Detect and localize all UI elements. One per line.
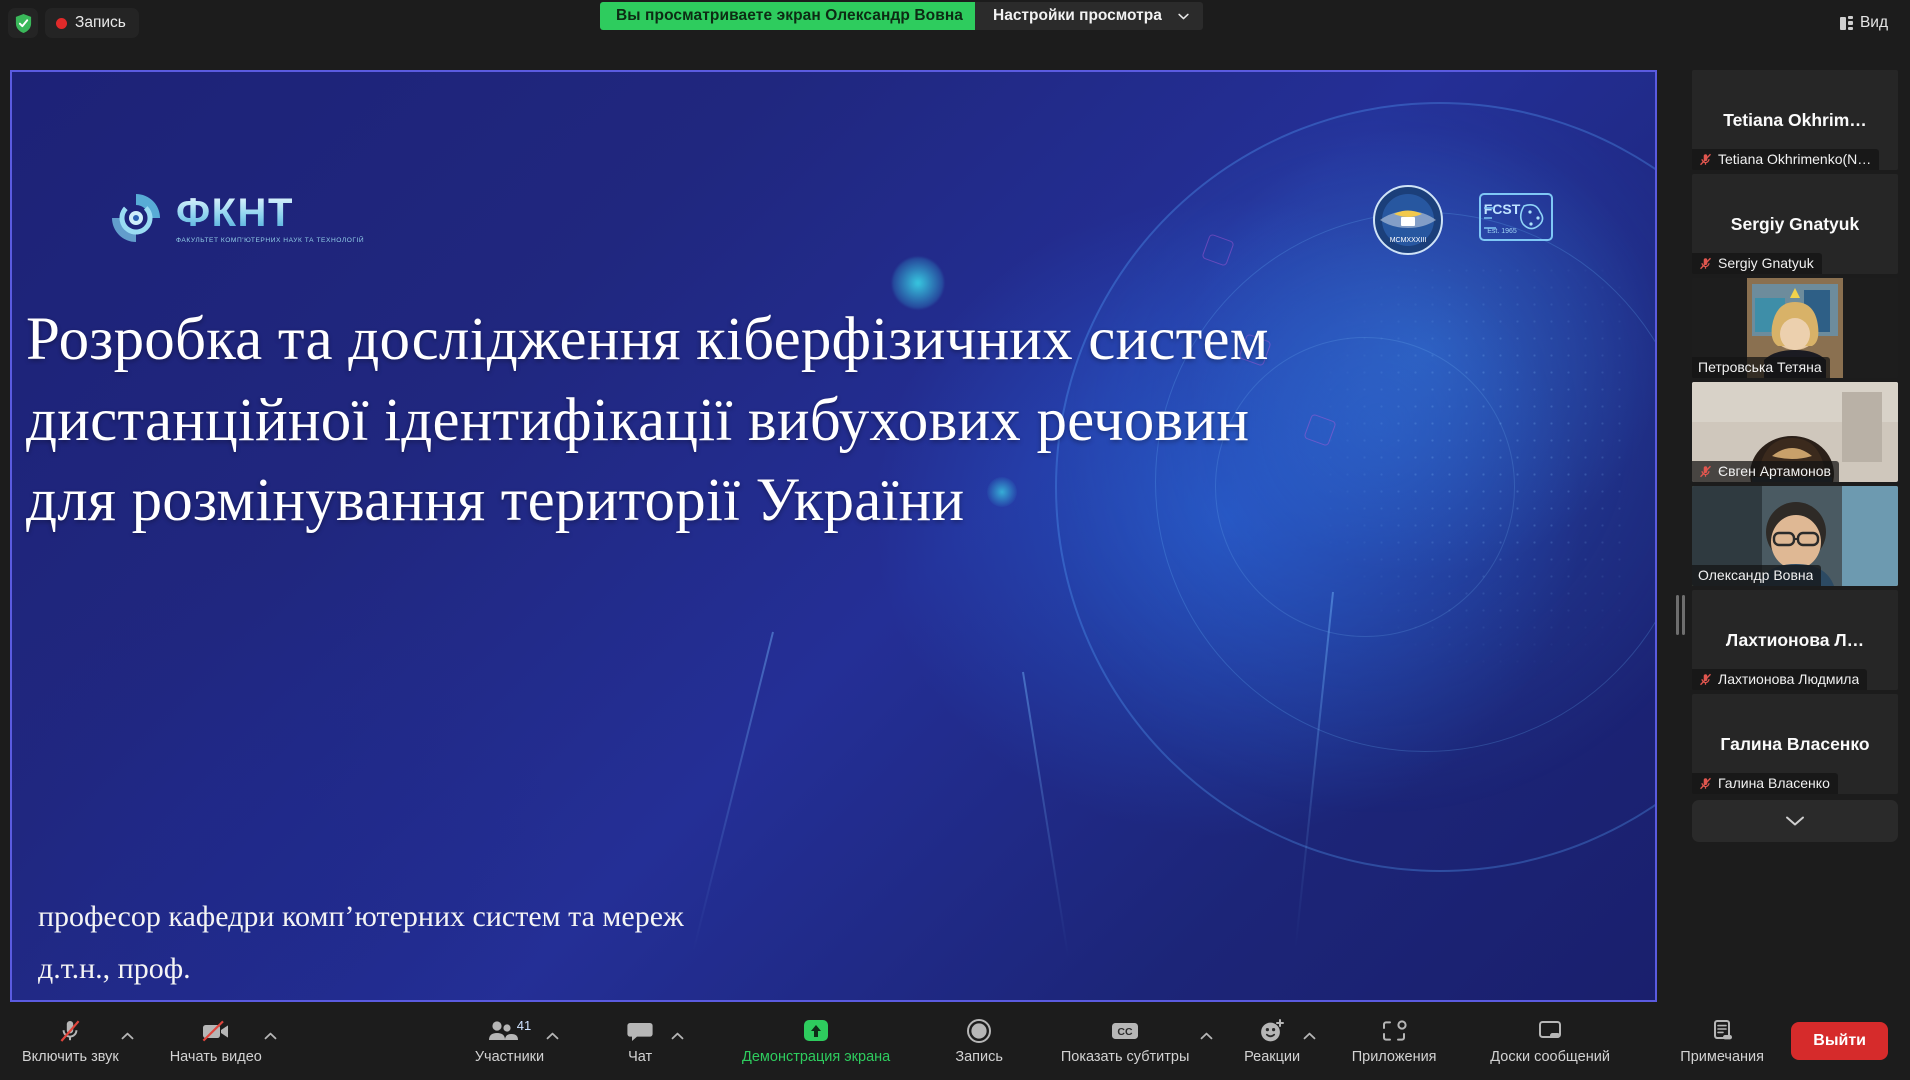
presentation-slide: ФКНТ ФАКУЛЬТЕТ КОМП'ЮТЕРНИХ НАУК ТА ТЕХН… bbox=[10, 70, 1657, 1002]
chevron-down-icon bbox=[1785, 815, 1805, 827]
participant-tile[interactable]: Євген Артамонов bbox=[1692, 382, 1898, 482]
decorative-ray bbox=[1022, 672, 1069, 959]
slide-degree-line: д.т.н., проф. bbox=[38, 952, 191, 986]
fcst-est-text: Est. 1965 bbox=[1487, 228, 1517, 235]
shield-check-icon bbox=[14, 13, 33, 34]
participant-badge-name: Олександр Вовна bbox=[1698, 567, 1813, 583]
recording-label: Запись bbox=[75, 14, 126, 32]
participant-badge-name: Tetiana Okhrimenko(N… bbox=[1718, 151, 1871, 167]
participants-options-caret[interactable] bbox=[546, 1028, 559, 1054]
share-screen-icon bbox=[799, 1017, 833, 1045]
notes-label: Примечания bbox=[1680, 1049, 1764, 1065]
fknt-logo-subtitle: ФАКУЛЬТЕТ КОМП'ЮТЕРНИХ НАУК ТА ТЕХНОЛОГІ… bbox=[176, 237, 364, 244]
audio-options-caret[interactable] bbox=[121, 1028, 134, 1054]
participant-badge-name: Sergiy Gnatyuk bbox=[1718, 255, 1814, 271]
zoom-meeting-window: Запись Вы просматриваете экран Олександр… bbox=[0, 0, 1910, 1080]
participant-tile[interactable]: Лахтионова Л… Лахтионова Людмила bbox=[1692, 590, 1898, 690]
start-video-label: Начать видео bbox=[170, 1049, 262, 1065]
partner-logos: MCMXXXIII FCST Est. 1965 bbox=[1372, 184, 1560, 256]
notes-icon bbox=[1708, 1017, 1736, 1045]
captions-options-caret[interactable] bbox=[1200, 1028, 1213, 1054]
mic-muted-icon bbox=[1698, 256, 1713, 271]
chat-options-caret[interactable] bbox=[671, 1028, 684, 1054]
shared-screen-stage[interactable]: ФКНТ ФАКУЛЬТЕТ КОМП'ЮТЕРНИХ НАУК ТА ТЕХН… bbox=[10, 70, 1657, 1002]
top-bar: Запись Вы просматриваете экран Олександр… bbox=[0, 0, 1910, 46]
view-grid-icon bbox=[1840, 16, 1853, 31]
share-resize-handle[interactable] bbox=[1673, 592, 1687, 638]
record-label: Запись bbox=[955, 1049, 1003, 1065]
record-dot-icon bbox=[56, 18, 67, 29]
view-settings-button[interactable]: Настройки просмотра bbox=[975, 2, 1203, 30]
whiteboards-label: Доски сообщений bbox=[1490, 1049, 1610, 1065]
participant-name-badge: Лахтионова Людмила bbox=[1692, 669, 1867, 690]
cc-badge-text: CC bbox=[1118, 1026, 1134, 1038]
unmute-audio-button[interactable]: Включить звук bbox=[22, 1008, 119, 1074]
participant-name-badge: Петровська Тетяна bbox=[1692, 357, 1830, 378]
participants-count-text: 41 bbox=[517, 1018, 531, 1033]
mic-muted-icon bbox=[1698, 776, 1713, 791]
captions-button[interactable]: CC Показать субтитры bbox=[1052, 1008, 1198, 1074]
mic-muted-icon bbox=[1698, 152, 1713, 167]
reactions-label: Реакции bbox=[1244, 1049, 1300, 1065]
chevron-up-icon bbox=[1303, 1032, 1316, 1040]
apps-button[interactable]: Приложения bbox=[1342, 1008, 1446, 1074]
closed-captions-icon: CC bbox=[1108, 1017, 1142, 1045]
mic-muted-icon bbox=[1698, 672, 1713, 687]
participant-badge-name: Лахтионова Людмила bbox=[1718, 671, 1859, 687]
recording-indicator-group: Запись bbox=[8, 8, 139, 38]
slide-title: Розробка та дослідження кіберфізичних си… bbox=[26, 300, 1326, 542]
mic-muted-icon bbox=[56, 1017, 84, 1045]
view-layout-button[interactable]: Вид bbox=[1830, 8, 1898, 38]
participants-icon: 41 bbox=[486, 1017, 532, 1045]
fknt-mark-icon bbox=[108, 190, 164, 246]
reactions-button[interactable]: Реакции bbox=[1243, 1008, 1301, 1074]
video-options-caret[interactable] bbox=[264, 1028, 277, 1054]
participant-tile-active-speaker[interactable]: Олександр Вовна bbox=[1692, 486, 1898, 586]
decorative-ray bbox=[692, 632, 774, 953]
view-label: Вид bbox=[1860, 14, 1888, 32]
apps-icon bbox=[1379, 1017, 1409, 1045]
participants-button[interactable]: 41 Участники bbox=[475, 1008, 544, 1074]
share-screen-label: Демонстрация экрана bbox=[742, 1049, 890, 1065]
chat-bubble-icon bbox=[626, 1017, 654, 1045]
mic-muted-icon bbox=[1698, 464, 1713, 479]
fcst-text: FCST bbox=[1484, 201, 1521, 217]
chat-button[interactable]: Чат bbox=[611, 1008, 669, 1074]
apps-label: Приложения bbox=[1352, 1049, 1437, 1065]
record-circle-icon bbox=[965, 1017, 993, 1045]
captions-label: Показать субтитры bbox=[1061, 1049, 1190, 1065]
participant-name-badge: Галина Власенко bbox=[1692, 773, 1838, 794]
sidebar-scroll-down-button[interactable] bbox=[1692, 800, 1898, 842]
whiteboards-button[interactable]: Доски сообщений bbox=[1470, 1008, 1630, 1074]
participant-badge-name: Петровська Тетяна bbox=[1698, 359, 1822, 375]
fknt-logo-title: ФКНТ bbox=[176, 193, 364, 233]
participants-label: Участники bbox=[475, 1049, 544, 1065]
participant-tile[interactable]: Tetiana Okhrim… Tetiana Okhrimenko(N… bbox=[1692, 70, 1898, 170]
reactions-options-caret[interactable] bbox=[1303, 1028, 1316, 1054]
fknt-logo: ФКНТ ФАКУЛЬТЕТ КОМП'ЮТЕРНИХ НАУК ТА ТЕХН… bbox=[108, 190, 364, 246]
view-settings-label: Настройки просмотра bbox=[993, 7, 1162, 25]
reactions-smiley-icon bbox=[1257, 1017, 1287, 1045]
leave-meeting-button[interactable]: Выйти bbox=[1791, 1022, 1888, 1060]
chat-label: Чат bbox=[628, 1049, 652, 1065]
encryption-shield-button[interactable] bbox=[8, 8, 38, 38]
participant-badge-name: Галина Власенко bbox=[1718, 775, 1830, 791]
decorative-dot-grid bbox=[1305, 262, 1635, 682]
participant-name-badge: Олександр Вовна bbox=[1692, 565, 1821, 586]
unmute-audio-label: Включить звук bbox=[22, 1049, 119, 1065]
meeting-toolbar: Включить звук Начать видео bbox=[0, 1002, 1910, 1080]
fcst-logo-icon: FCST Est. 1965 bbox=[1472, 188, 1560, 252]
chevron-up-icon bbox=[121, 1032, 134, 1040]
share-banner-label: Вы просматриваете экран Олександр Вовна bbox=[616, 7, 963, 25]
chevron-up-icon bbox=[546, 1032, 559, 1040]
participant-tile[interactable]: Галина Власенко Галина Власенко bbox=[1692, 694, 1898, 794]
chevron-up-icon bbox=[671, 1032, 684, 1040]
nau-seal-icon: MCMXXXIII bbox=[1372, 184, 1444, 256]
participant-name-badge: Tetiana Okhrimenko(N… bbox=[1692, 149, 1879, 170]
seal-year-text: MCMXXXIII bbox=[1390, 237, 1427, 244]
slide-role-line: професор кафедри комп’ютерних систем та … bbox=[38, 900, 684, 934]
chevron-up-icon bbox=[1200, 1032, 1213, 1040]
chevron-down-icon bbox=[1178, 13, 1189, 20]
record-button[interactable]: Запись bbox=[950, 1008, 1008, 1074]
participant-tile[interactable]: Петровська Тетяна bbox=[1692, 278, 1898, 378]
start-video-button[interactable]: Начать видео bbox=[170, 1008, 262, 1074]
participants-sidebar[interactable]: Tetiana Okhrim… Tetiana Okhrimenko(N… Se… bbox=[1692, 70, 1898, 1002]
recording-status-pill[interactable]: Запись bbox=[45, 8, 139, 38]
chevron-up-icon bbox=[264, 1032, 277, 1040]
participant-name-badge: Sergiy Gnatyuk bbox=[1692, 253, 1822, 274]
participant-tile[interactable]: Sergiy Gnatyuk Sergiy Gnatyuk bbox=[1692, 174, 1898, 274]
screen-share-banner: Вы просматриваете экран Олександр Вовна bbox=[600, 2, 979, 30]
share-screen-button[interactable]: Демонстрация экрана bbox=[728, 1008, 904, 1074]
participant-name-badge: Євген Артамонов bbox=[1692, 461, 1839, 482]
participant-badge-name: Євген Артамонов bbox=[1718, 463, 1831, 479]
camera-off-icon bbox=[200, 1017, 232, 1045]
whiteboard-icon bbox=[1535, 1017, 1565, 1045]
notes-button[interactable]: Примечания bbox=[1654, 1008, 1790, 1074]
